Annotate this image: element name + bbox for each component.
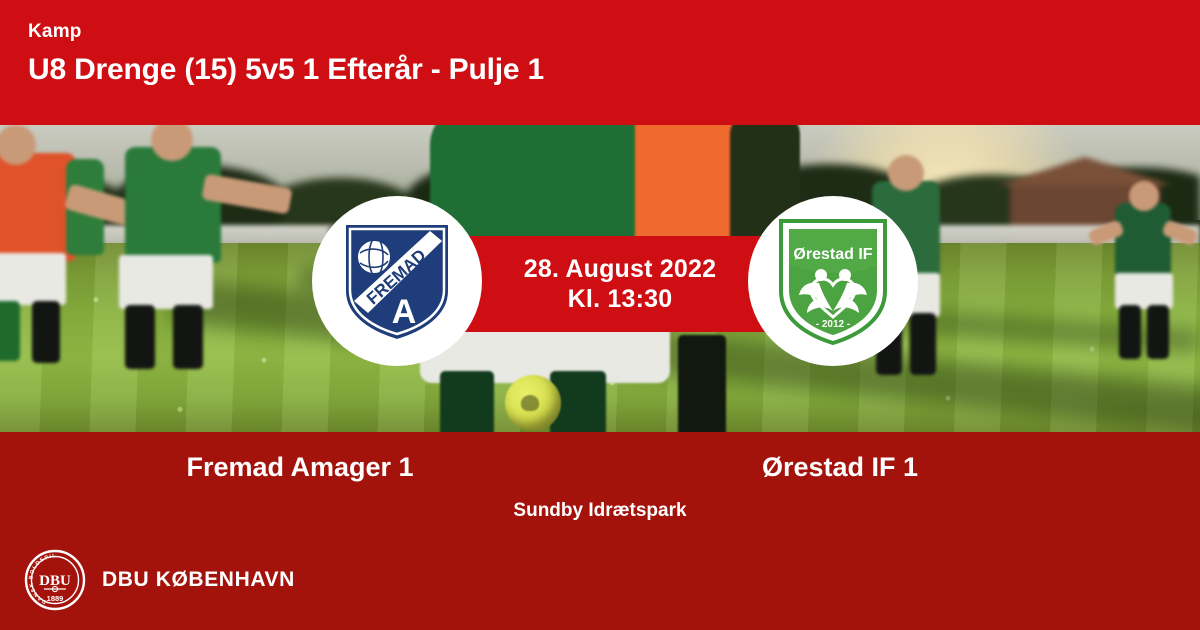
photo-football <box>505 375 561 431</box>
team-names-row: Fremad Amager 1 Ørestad IF 1 <box>0 444 1200 490</box>
photo-player-standing <box>1085 181 1200 361</box>
fremad-amager-crest-icon: FREMAD A <box>338 217 456 345</box>
dbu-brand-name: DBU KØBENHAVN <box>102 568 295 592</box>
match-datetime-banner: 28. August 2022 Kl. 13:30 <box>450 236 790 332</box>
match-venue: Sundby Idrætspark <box>0 498 1200 524</box>
away-team-crest: Ørestad IF - 2012 - <box>748 196 918 366</box>
home-team-name: Fremad Amager 1 <box>0 444 600 490</box>
photo-player-green-running <box>95 129 305 369</box>
home-team-crest: FREMAD A <box>312 196 482 366</box>
crest-wordmark: Ørestad IF <box>793 246 872 263</box>
match-time: Kl. 13:30 <box>568 284 673 314</box>
competition-title: U8 Drenge (15) 5v5 1 Efterår - Pulje 1 <box>28 50 1200 90</box>
kamp-kicker-label: Kamp <box>28 20 1200 44</box>
crest-letter: A <box>392 293 417 331</box>
match-date: 28. August 2022 <box>524 254 716 284</box>
poster-header: Kamp U8 Drenge (15) 5v5 1 Efterår - Pulj… <box>0 0 1200 125</box>
away-team-name: Ørestad IF 1 <box>600 444 1080 490</box>
dbu-seal-icon: DANSK BOLDSPIL UNION DBU 1889 <box>24 549 86 611</box>
dbu-brand-lockup: DANSK BOLDSPIL UNION DBU 1889 DBU KØBENH… <box>24 546 295 614</box>
seal-year: 1889 <box>47 594 64 603</box>
orestad-if-crest-icon: Ørestad IF - 2012 - <box>773 215 893 347</box>
match-poster: Kamp U8 Drenge (15) 5v5 1 Efterår - Pulj… <box>0 0 1200 630</box>
crest-founded: - 2012 - <box>816 319 850 330</box>
